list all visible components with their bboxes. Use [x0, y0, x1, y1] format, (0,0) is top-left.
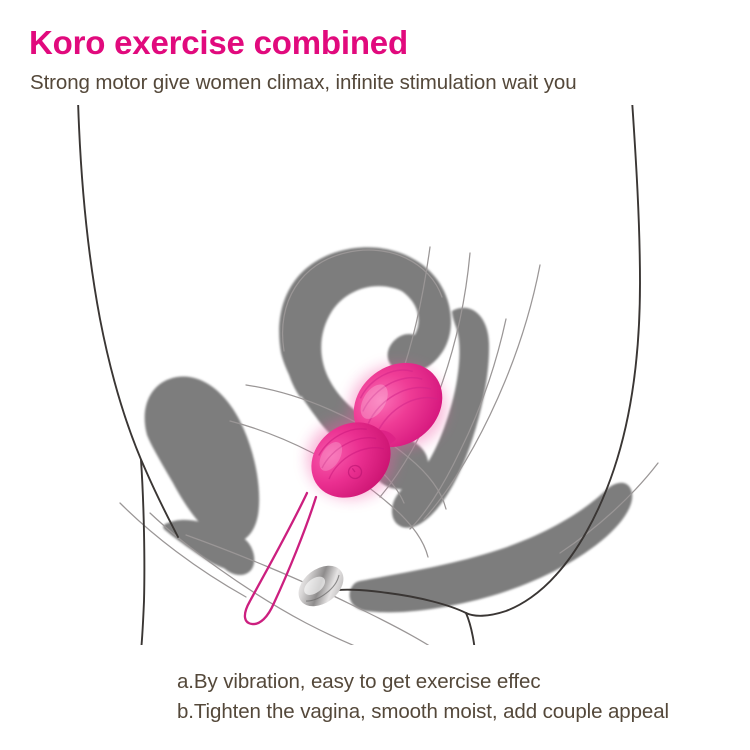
- abdomen-outline: [78, 105, 178, 537]
- product-infographic: Koro exercise combined Strong motor give…: [0, 0, 750, 750]
- page-subtitle: Strong motor give women climax, infinite…: [30, 70, 577, 96]
- metal-cap: [291, 557, 351, 614]
- benefit-item-a: a.By vibration, easy to get exercise eff…: [177, 669, 540, 695]
- anatomy-svg: [0, 105, 750, 645]
- anatomy-illustration: [0, 105, 750, 645]
- abdomen-outline-lower: [141, 460, 144, 645]
- page-title: Koro exercise combined: [29, 24, 408, 62]
- bladder-shape: [145, 376, 260, 542]
- inner-thigh-outline: [466, 613, 476, 645]
- benefit-item-b: b.Tighten the vagina, smooth moist, add …: [177, 699, 669, 725]
